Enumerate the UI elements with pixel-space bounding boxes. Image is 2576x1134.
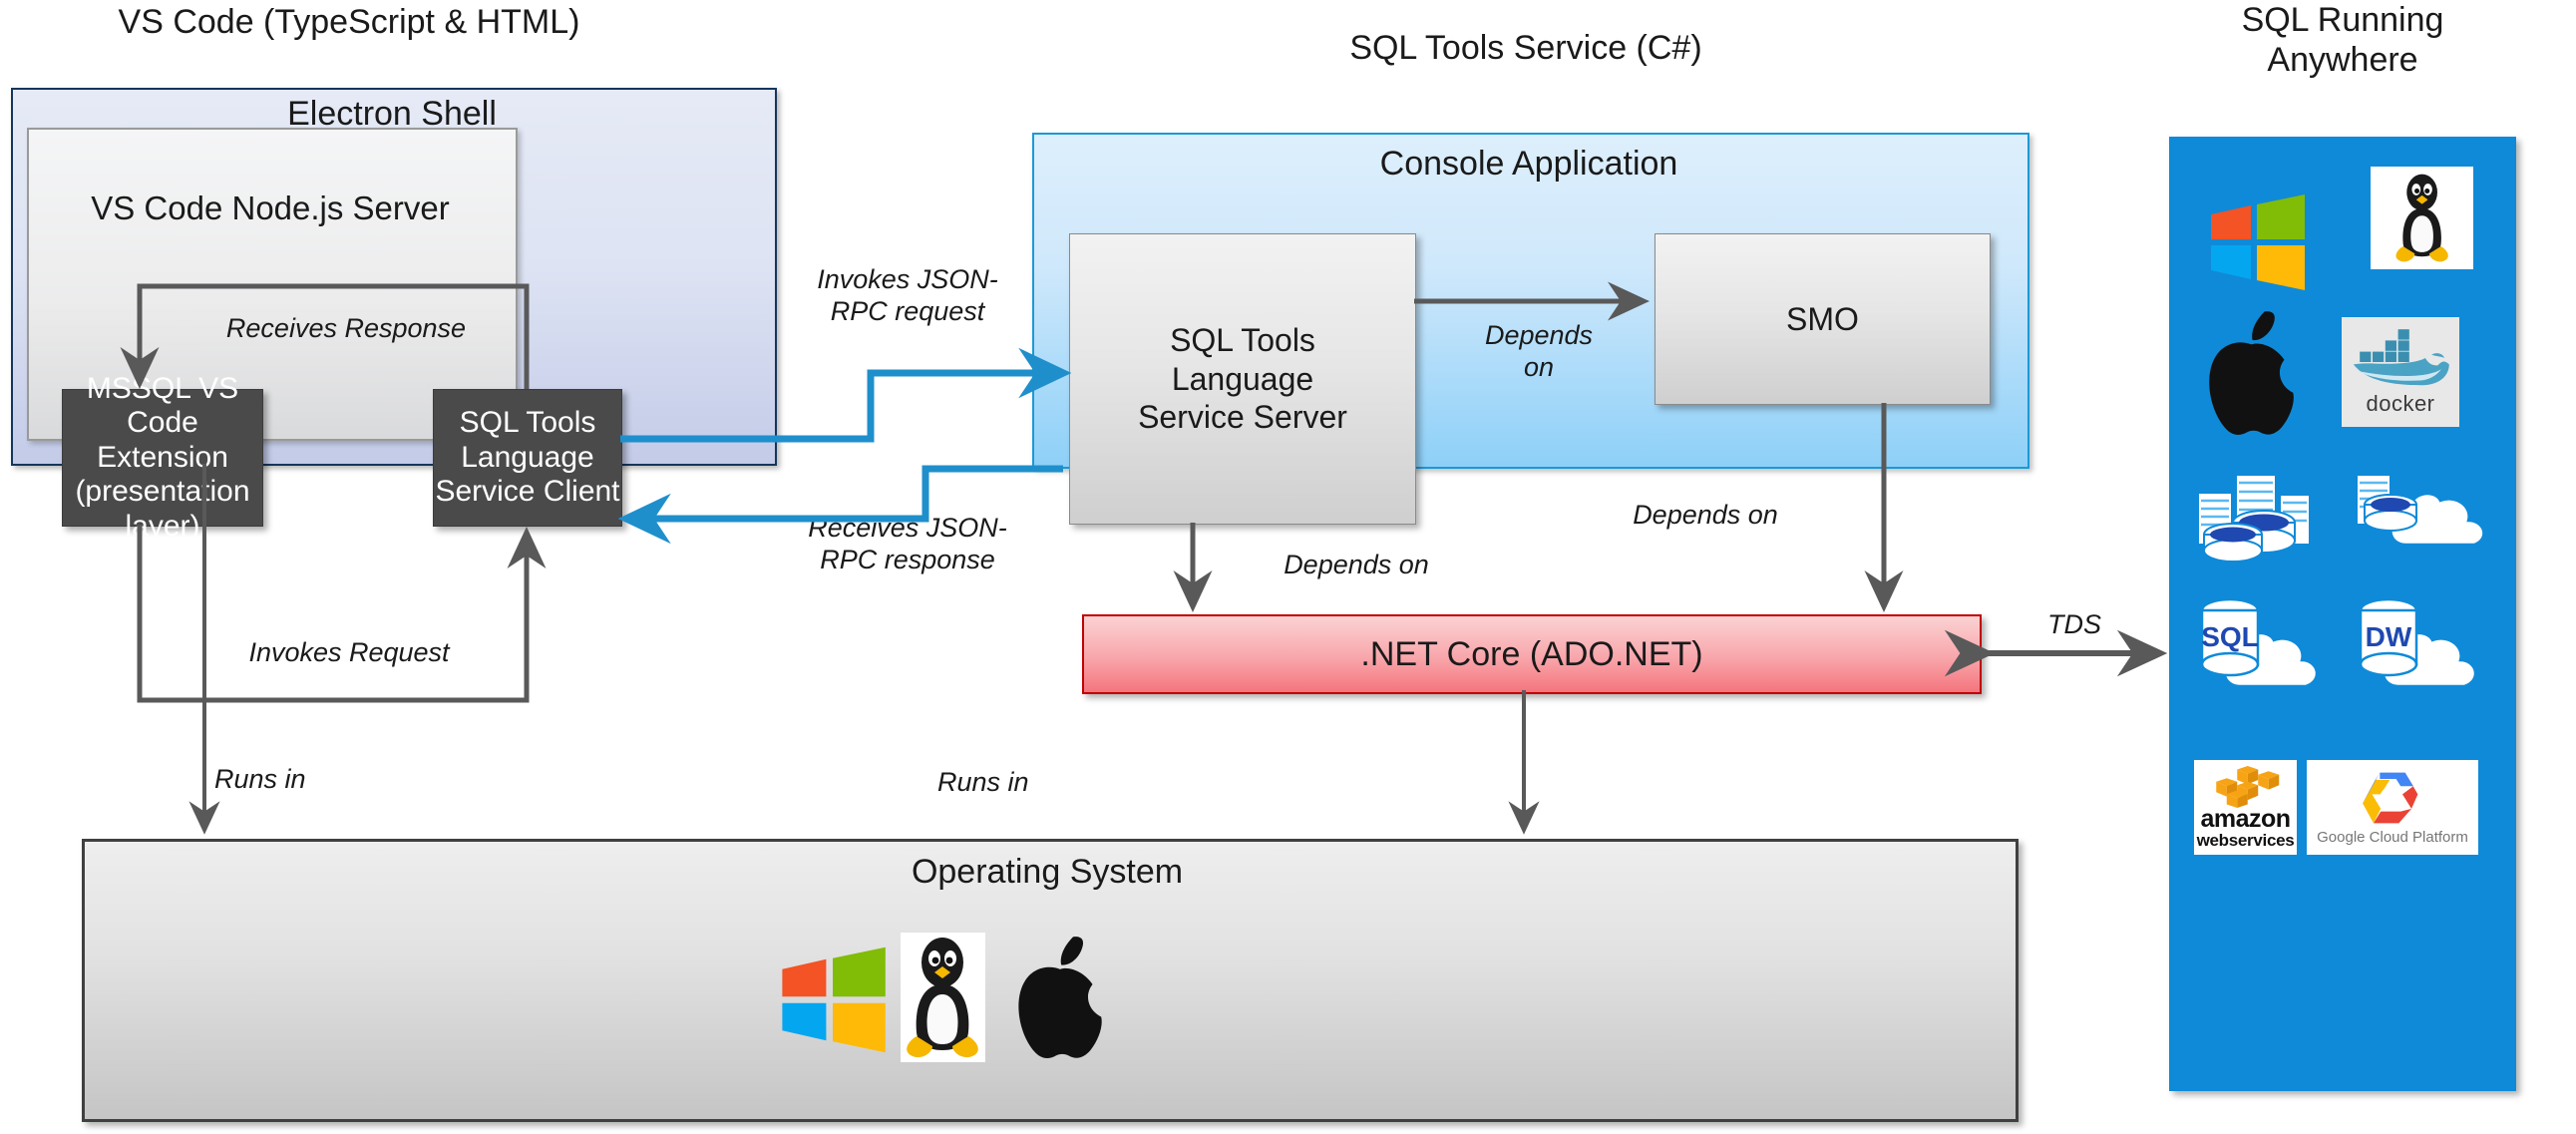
- os-icons-row: [778, 933, 1257, 1072]
- ipc-label-invokes-json-rpc-request: Invokes JSON- RPC request: [788, 263, 1027, 328]
- smo-label: SMO: [1786, 300, 1859, 338]
- azure-sql-dw-label: DW: [2366, 621, 2412, 652]
- apple-logo-icon: [1005, 933, 1115, 1062]
- title-sql-running-anywhere: SQL Running Anywhere: [2169, 0, 2516, 80]
- azure-sql-database-label: SQL: [2201, 621, 2259, 652]
- sql-server-vm-cloud-icon: [2349, 469, 2503, 567]
- edge-label-depends-on-smo: Depends on: [1439, 319, 1639, 384]
- edge-label-runs-in-right: Runs in: [937, 766, 1097, 798]
- sql-tools-language-service-server-label: SQL Tools Language Service Server: [1138, 321, 1347, 436]
- azure-sql-database-icon: SQL: [2190, 588, 2342, 693]
- nodejs-server-label: VS Code Node.js Server: [27, 189, 514, 227]
- edge-label-runs-in-left: Runs in: [214, 763, 374, 795]
- edge-label-invokes-request: Invokes Request: [204, 636, 494, 668]
- sql-tools-language-service-server-box[interactable]: SQL Tools Language Service Server: [1069, 233, 1416, 525]
- dotnet-core-ado-net-box[interactable]: .NET Core (ADO.NET): [1082, 614, 1982, 694]
- operating-system-label-wrap: Operating System: [82, 853, 2013, 892]
- linux-penguin-icon: [2371, 167, 2473, 269]
- sql-tools-language-service-client-label: SQL Tools Language Service Client: [435, 406, 619, 510]
- title-vscode: VS Code (TypeScript & HTML): [20, 2, 678, 42]
- linux-penguin-icon: [901, 933, 985, 1062]
- nodejs-server-label-wrap: VS Code Node.js Server: [27, 189, 514, 227]
- arrow-invokes-request: [140, 525, 527, 700]
- docker-logo-icon[interactable]: docker: [2342, 317, 2459, 427]
- mssql-vscode-extension-box[interactable]: MSSQL VS Code Extension (presentation la…: [62, 389, 263, 527]
- edge-label-depends-on-netcore-left: Depends on: [1227, 549, 1486, 580]
- console-application-label-wrap: Console Application: [1032, 145, 2025, 184]
- sql-server-on-premises-icon: [2190, 461, 2335, 566]
- docker-label: docker: [2366, 391, 2434, 417]
- sql-tools-language-service-client-box[interactable]: SQL Tools Language Service Client: [433, 389, 622, 527]
- amazon-web-services-logo-icon[interactable]: amazon webservices: [2194, 760, 2297, 855]
- dotnet-core-label: .NET Core (ADO.NET): [1360, 635, 1702, 674]
- azure-sql-data-warehouse-icon: DW: [2349, 588, 2500, 693]
- apple-logo-icon: [2194, 307, 2309, 439]
- edge-label-depends-on-netcore-right: Depends on: [1576, 499, 1835, 531]
- operating-system-label: Operating System: [82, 853, 2013, 892]
- ipc-label-receives-json-rpc-response: Receives JSON- RPC response: [788, 512, 1027, 576]
- aws-label-top: amazon: [2200, 808, 2290, 832]
- windows-logo-icon: [778, 943, 888, 1057]
- smo-box[interactable]: SMO: [1655, 233, 1991, 405]
- tds-label: TDS: [2005, 608, 2144, 640]
- console-application-label: Console Application: [1032, 145, 2025, 184]
- windows-logo-icon: [2197, 192, 2317, 292]
- aws-label-bottom: webservices: [2197, 832, 2295, 849]
- google-cloud-platform-logo-icon[interactable]: Google Cloud Platform: [2307, 760, 2478, 855]
- edge-label-receives-response: Receives Response: [196, 312, 496, 344]
- title-sql-tools-service: SQL Tools Service (C#): [1027, 28, 2024, 68]
- gcp-label: Google Cloud Platform: [2317, 829, 2468, 846]
- mssql-vscode-extension-label: MSSQL VS Code Extension (presentation la…: [63, 372, 262, 545]
